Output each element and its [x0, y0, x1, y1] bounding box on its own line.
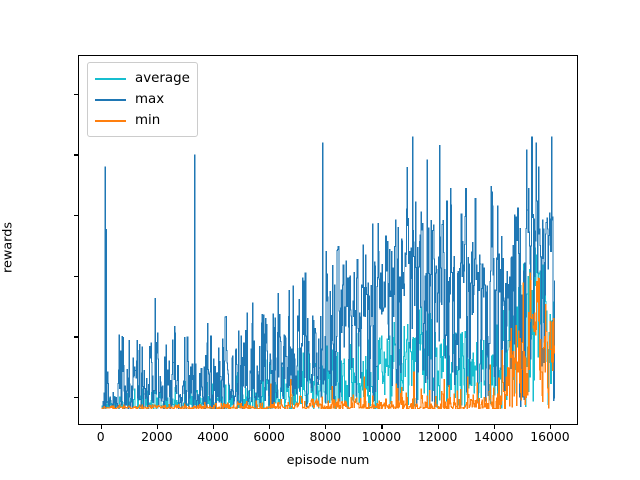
y-axis-label: rewards [1, 222, 16, 273]
x-tick-mark [213, 425, 214, 429]
x-tick-label: 6000 [253, 431, 285, 443]
x-tick-mark [157, 425, 158, 429]
x-tick-mark [494, 425, 495, 429]
y-tick-mark [74, 154, 78, 155]
legend-line-swatch [95, 99, 126, 101]
x-tick-mark [550, 425, 551, 429]
y-tick-mark [74, 397, 78, 398]
legend-item-label: average [135, 72, 190, 85]
x-tick-label: 12000 [418, 431, 457, 443]
x-tick-label: 8000 [310, 431, 342, 443]
y-tick-mark [74, 215, 78, 216]
legend-item-label: min [135, 114, 160, 127]
x-tick-mark [269, 425, 270, 429]
x-tick-mark [325, 425, 326, 429]
x-tick-label: 0 [97, 431, 105, 443]
x-tick-label: 10000 [362, 431, 401, 443]
chart-legend: averagemaxmin [87, 62, 198, 137]
legend-item-max[interactable]: max [95, 89, 190, 110]
figure-canvas: 50−5−10−15−20 02000400060008000100001200… [0, 0, 640, 480]
y-tick-mark [74, 94, 78, 95]
legend-item-min[interactable]: min [95, 110, 190, 131]
y-tick-mark [74, 276, 78, 277]
legend-item-average[interactable]: average [95, 68, 190, 89]
x-tick-label: 2000 [141, 431, 173, 443]
x-tick-mark [438, 425, 439, 429]
legend-line-swatch [95, 78, 126, 80]
x-tick-mark [381, 425, 382, 429]
legend-line-swatch [95, 120, 126, 122]
x-tick-label: 16000 [530, 431, 569, 443]
x-axis-label: episode num [287, 453, 370, 468]
x-tick-label: 14000 [474, 431, 513, 443]
x-tick-mark [101, 425, 102, 429]
x-tick-label: 4000 [197, 431, 229, 443]
y-tick-mark [74, 336, 78, 337]
legend-item-label: max [135, 93, 164, 106]
